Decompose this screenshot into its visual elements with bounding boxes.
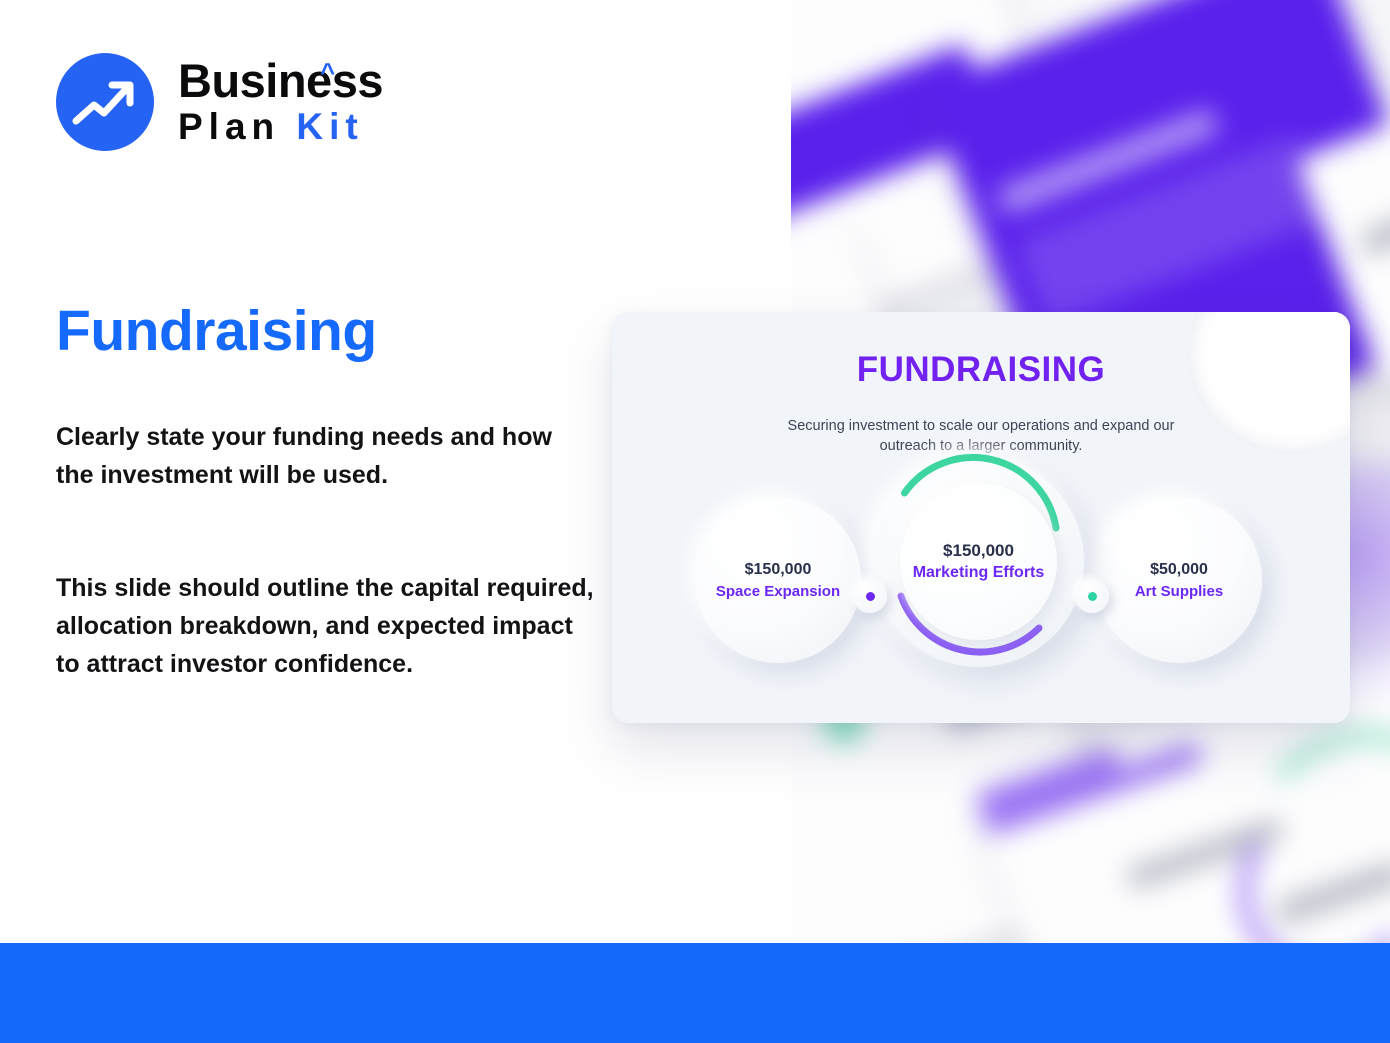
- growth-arrow-circle-icon: [56, 53, 154, 151]
- brand-line-business: Business ^: [178, 56, 383, 106]
- segment-amount: $150,000: [745, 559, 812, 580]
- segment-label: Marketing Efforts: [913, 562, 1045, 583]
- segment-circle-marketing-efforts[interactable]: $150,000 Marketing Efforts: [900, 483, 1057, 640]
- segment-circle-art-supplies[interactable]: $50,000 Art Supplies: [1096, 497, 1262, 663]
- brand-plan-text: Plan: [178, 106, 280, 147]
- page-title: Fundraising: [56, 298, 377, 364]
- connector-node-right: [1075, 579, 1109, 613]
- connector-dot-green: [1088, 592, 1097, 601]
- brand-logo[interactable]: Business ^ Plan Kit: [56, 53, 383, 151]
- connector-dot-purple: [866, 592, 875, 601]
- body-paragraph-2: This slide should outline the capital re…: [56, 569, 596, 683]
- brand-kit-text: Kit: [296, 106, 363, 147]
- segment-circle-space-expansion[interactable]: $150,000 Space Expansion: [695, 497, 861, 663]
- slide-page: FUNDRAISING Securing investment to scale…: [0, 0, 1390, 1043]
- brand-wordmark: Business ^ Plan Kit: [178, 56, 383, 148]
- slide-preview-card[interactable]: FUNDRAISING Securing investment to scale…: [612, 312, 1350, 723]
- body-paragraph-1: Clearly state your funding needs and how…: [56, 418, 576, 494]
- connector-node-left: [853, 579, 887, 613]
- funding-breakdown-diagram: $150,000 Space Expansion $50,000 Art Sup…: [612, 470, 1350, 700]
- bg-slide-6-purple-ring: [1224, 788, 1390, 943]
- footer-bar: [0, 943, 1390, 1043]
- segment-amount: $150,000: [943, 540, 1014, 561]
- segment-label: Art Supplies: [1135, 581, 1223, 602]
- growth-arrow-glyph: [56, 53, 154, 151]
- brand-business-text: Business: [178, 54, 383, 107]
- segment-amount: $50,000: [1150, 559, 1208, 580]
- slide-preview-title: FUNDRAISING: [612, 350, 1350, 390]
- brand-line-plan-kit: Plan Kit: [178, 106, 383, 148]
- segment-label: Space Expansion: [716, 581, 840, 602]
- bg-slide-3-bar: [1359, 195, 1390, 257]
- brand-caret-accent-icon: ^: [320, 47, 335, 97]
